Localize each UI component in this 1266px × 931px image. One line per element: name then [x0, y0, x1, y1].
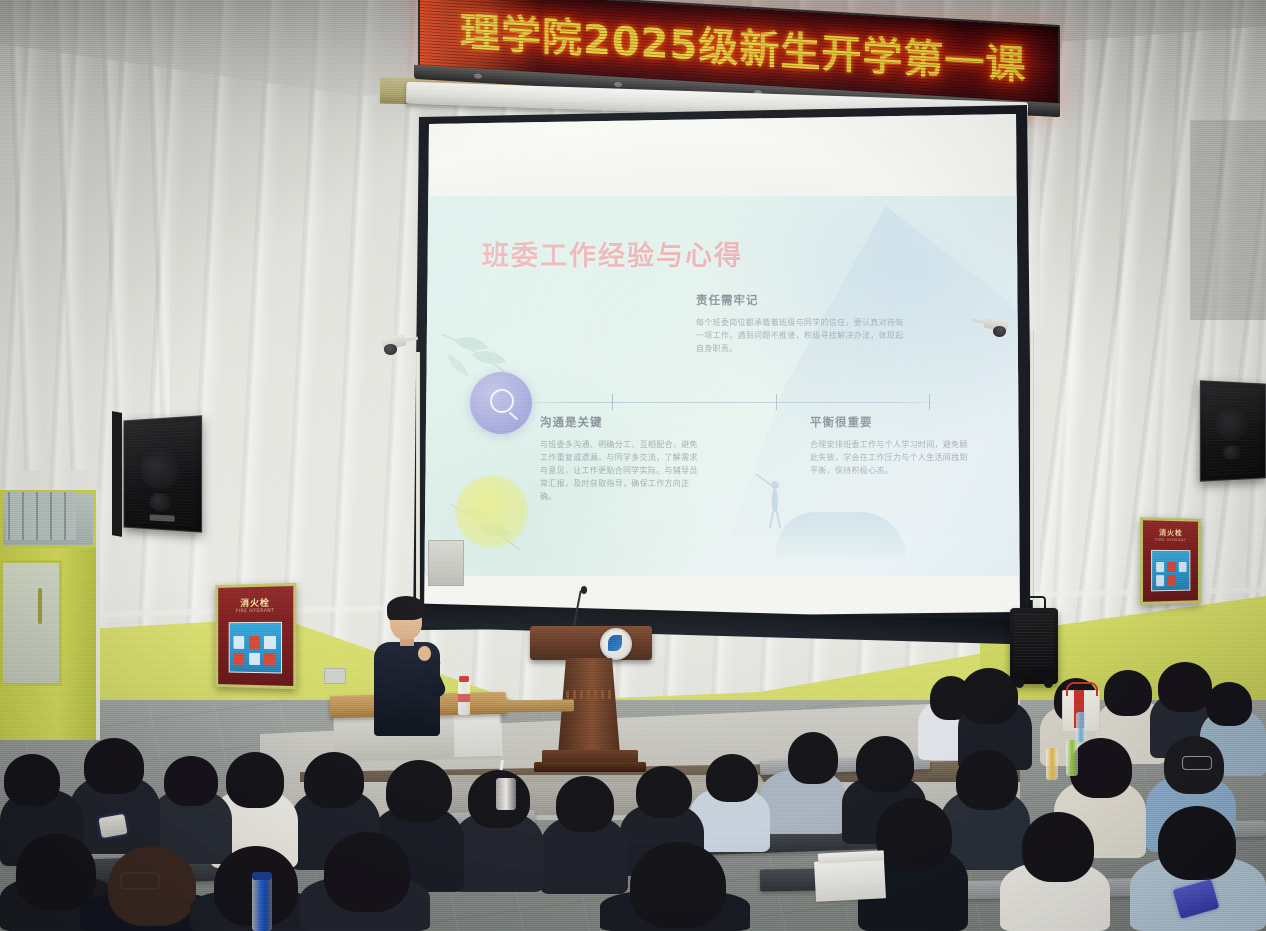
list-item [706, 754, 758, 802]
speaker-woofer [140, 448, 178, 489]
slide-title: 班委工作经验与心得 [482, 234, 743, 273]
list-item [956, 750, 1018, 810]
list-item [1206, 682, 1252, 726]
list-item [84, 738, 144, 794]
list-item [876, 798, 952, 870]
door-handle[interactable] [38, 588, 42, 624]
wall-conduit-right [1030, 330, 1034, 600]
list-item [1104, 670, 1152, 716]
lectern-plinth [534, 762, 646, 772]
camera-lens-icon [384, 344, 397, 355]
timeline-tick-1 [612, 394, 613, 410]
tote-bag-handle [1066, 682, 1098, 696]
list-item [856, 736, 914, 792]
list-item [960, 668, 1018, 724]
fire-hydrant-cabinet-right[interactable]: 消火栓 FIRE HYDRANT [1140, 517, 1201, 605]
list-item [304, 752, 364, 808]
right-wall-panel [1190, 120, 1266, 320]
list-item [226, 752, 284, 808]
camera-lens-icon-right [993, 326, 1006, 337]
speaker-woofer-right [1215, 407, 1248, 442]
hydrant-sublabel-right: FIRE HYDRANT [1143, 538, 1198, 543]
magnifier-icon [490, 389, 514, 413]
microphone-head-icon [581, 586, 587, 594]
wall-junction-box [428, 540, 464, 586]
list-item [1158, 662, 1212, 712]
slide-timeline-line [520, 402, 940, 403]
list-item [556, 776, 614, 832]
slide-section-2-body: 与班委多沟通、明确分工、互相配合，避免工作重复或遗漏。与同学多交流，了解需求与意… [540, 438, 700, 503]
list-item [16, 834, 96, 910]
slide-section-3-body: 合理安排班委工作与个人学习时间，避免顾此失彼，学会在工作压力与个人生活间找到平衡… [810, 438, 970, 477]
stage-bench [498, 699, 574, 712]
lecture-hall-photo: 理学院2025级新生开学第一课 [0, 0, 1266, 931]
lectern [530, 612, 652, 770]
list-item [630, 842, 726, 928]
water-bottle-audience [1076, 712, 1086, 742]
wall-flute-panels-left [0, 0, 170, 470]
lectern-top [530, 626, 652, 660]
lectern-ornament [566, 690, 614, 699]
presenter-hair-side [387, 602, 397, 620]
list-item [4, 754, 60, 806]
presentation-slide: 班委工作经验与心得 责任需牢记 每个班委岗位都承载着班级与同学的信任，要认真对待… [424, 196, 1020, 576]
wall-speaker-right [1200, 380, 1266, 481]
eyeglasses-icon [120, 872, 160, 890]
list-item [1158, 806, 1236, 880]
portable-pa-speaker [1010, 608, 1058, 684]
slide-section-3-heading: 平衡很重要 [810, 414, 970, 430]
stack-of-books [814, 858, 886, 902]
water-bottle-cap [459, 676, 469, 682]
list-item [164, 756, 218, 806]
hydrant-instruction-poster-right [1151, 550, 1191, 592]
speaker-bracket-left [112, 411, 122, 537]
slide-section-1-body: 每个班委岗位都承载着班级与同学的信任，要认真对待每一项工作，遇到问题不推诿，积极… [696, 316, 906, 355]
timeline-tick-3 [929, 394, 930, 410]
list-item [636, 766, 692, 818]
projector-screen-surface: 班委工作经验与心得 责任需牢记 每个班委岗位都承载着班级与同学的信任，要认真对待… [424, 114, 1020, 619]
screen-blank-band [424, 114, 1020, 204]
water-bottle-label [458, 694, 470, 702]
slide-section-1-heading: 责任需牢记 [696, 292, 906, 308]
slide-section-1: 责任需牢记 每个班委岗位都承载着班级与同学的信任，要认真对待每一项工作，遇到问题… [696, 292, 906, 355]
list-item [1022, 812, 1094, 882]
timeline-tick-2 [776, 394, 777, 410]
door-window-bars [6, 492, 76, 540]
eyeglasses-icon [1182, 756, 1212, 770]
stage-desk-panel [453, 712, 502, 757]
slide-yellow-blob [456, 476, 528, 548]
wall-speaker-left [124, 415, 203, 532]
hydrant-label: 消火栓 [218, 595, 293, 609]
list-item [1070, 738, 1132, 798]
door-glass-panel [0, 560, 62, 686]
slide-section-2: 沟通是关键 与班委多沟通、明确分工、互相配合，避免工作重复或遗漏。与同学多交流，… [540, 414, 700, 503]
list-item [788, 732, 838, 784]
slide-node-circle [470, 372, 532, 434]
wall-conduit-left [416, 352, 420, 602]
wall-outlet [324, 668, 346, 684]
list-item [386, 760, 452, 822]
presenter [372, 596, 444, 736]
water-bottle-front [252, 874, 272, 931]
list-item [324, 832, 410, 912]
speaker-tweeter [150, 493, 171, 512]
water-bottle-cap-front [252, 872, 272, 880]
cup-on-desk [496, 778, 516, 810]
orange-beverage [1046, 748, 1058, 780]
hydrant-instruction-poster [228, 622, 282, 674]
hydrant-sublabel: FIRE HYDRANT [218, 608, 293, 614]
slide-section-2-heading: 沟通是关键 [540, 414, 700, 430]
fire-hydrant-cabinet-left[interactable]: 消火栓 FIRE HYDRANT [215, 583, 296, 689]
school-emblem-icon [600, 628, 632, 660]
presenter-hand [418, 646, 431, 661]
green-beverage [1066, 740, 1078, 776]
slide-section-3: 平衡很重要 合理安排班委工作与个人学习时间，避免顾此失彼，学会在工作压力与个人生… [810, 414, 970, 477]
